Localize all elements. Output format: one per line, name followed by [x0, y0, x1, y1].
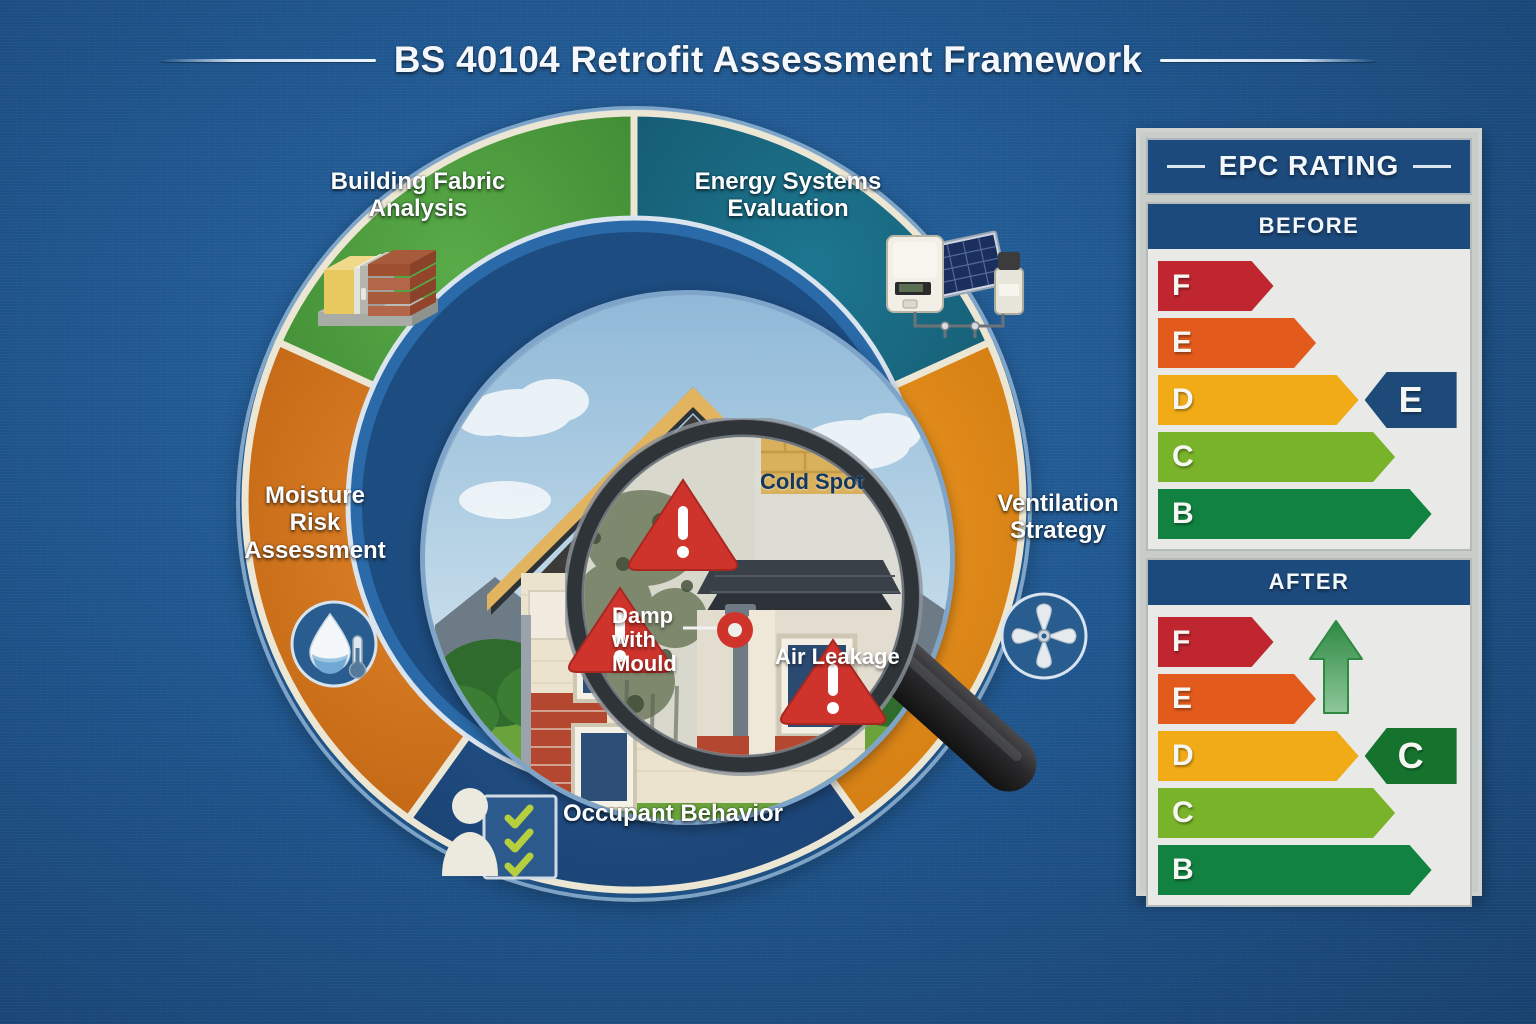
epc-before-heading: BEFORE	[1148, 204, 1470, 249]
epc-title-rule-left	[1167, 165, 1205, 168]
epc-bar-e: E	[1158, 318, 1316, 368]
epc-bar-d: D	[1158, 375, 1359, 425]
epc-before-block: BEFORE FEDECB	[1146, 202, 1472, 551]
epc-row-after-d: DC	[1158, 731, 1462, 781]
epc-badge-after: C	[1365, 728, 1457, 784]
page-title-bar: BS 40104 Retrofit Assessment Framework	[0, 24, 1536, 96]
epc-panel-title-bar: EPC RATING	[1146, 138, 1472, 195]
epc-row-after-f: F	[1158, 617, 1462, 667]
epc-row-before-c: C	[1158, 432, 1462, 482]
epc-rating-panel: EPC RATING BEFORE FEDECB AFTER FEDCCB	[1136, 128, 1482, 896]
epc-after-body: FEDCCB	[1148, 605, 1470, 905]
epc-bar-d: D	[1158, 731, 1359, 781]
epc-bar-e: E	[1158, 674, 1316, 724]
epc-bar-f: F	[1158, 261, 1274, 311]
title-rule-left	[161, 59, 376, 62]
epc-bar-c: C	[1158, 432, 1395, 482]
page-title: BS 40104 Retrofit Assessment Framework	[394, 39, 1143, 81]
title-rule-right	[1160, 59, 1375, 62]
epc-after-bars: FEDCCB	[1158, 617, 1462, 895]
epc-before-bars: FEDECB	[1158, 261, 1462, 539]
epc-row-before-b: B	[1158, 489, 1462, 539]
house-inspection-scene	[420, 290, 955, 825]
epc-row-before-f: F	[1158, 261, 1462, 311]
epc-after-heading: AFTER	[1148, 560, 1470, 605]
epc-row-after-c: C	[1158, 788, 1462, 838]
epc-bar-b: B	[1158, 489, 1432, 539]
epc-row-before-d: DE	[1158, 375, 1462, 425]
epc-panel-title: EPC RATING	[1219, 150, 1400, 182]
epc-bar-f: F	[1158, 617, 1274, 667]
epc-title-rule-right	[1413, 165, 1451, 168]
epc-badge-before: E	[1365, 372, 1457, 428]
epc-after-block: AFTER FEDCCB	[1146, 558, 1472, 907]
epc-row-after-e: E	[1158, 674, 1462, 724]
epc-row-before-e: E	[1158, 318, 1462, 368]
epc-row-after-b: B	[1158, 845, 1462, 895]
epc-before-body: FEDECB	[1148, 249, 1470, 549]
epc-bar-c: C	[1158, 788, 1395, 838]
epc-bar-b: B	[1158, 845, 1432, 895]
